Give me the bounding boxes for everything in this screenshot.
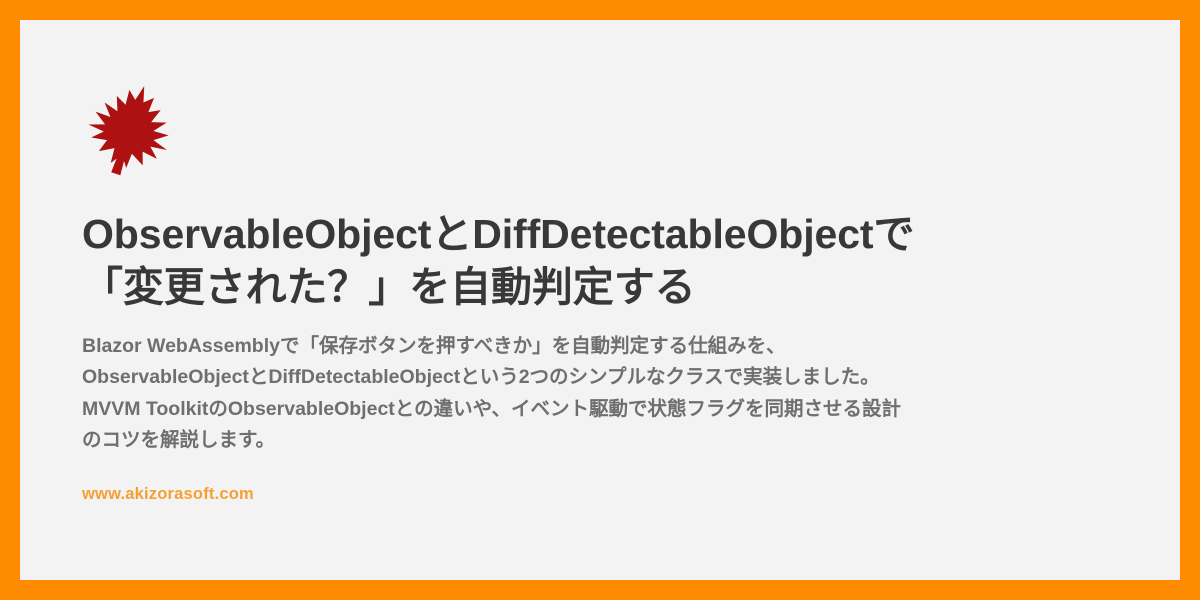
- description-line-3: MVVM ToolkitのObservableObjectとの違いや、イベント駆…: [82, 394, 1118, 426]
- page-title: ObservableObjectとDiffDetectableObjectで 「…: [82, 208, 1118, 315]
- description-line-4: のコツを解説します。: [82, 425, 1118, 457]
- page-title-line-1: ObservableObjectとDiffDetectableObjectで: [82, 208, 1118, 261]
- maple-leaf-logo: [82, 80, 178, 176]
- ogp-card: ObservableObjectとDiffDetectableObjectで 「…: [0, 0, 1200, 600]
- description-line-2: ObservableObjectとDiffDetectableObjectという…: [82, 362, 1118, 394]
- page-title-line-2: 「変更された？」を自動判定する: [82, 261, 1118, 314]
- ogp-card-inner: ObservableObjectとDiffDetectableObjectで 「…: [20, 20, 1180, 580]
- page-description: Blazor WebAssemblyで「保存ボタンを押すべきか」を自動判定する仕…: [82, 331, 1118, 457]
- site-url-link[interactable]: www.akizorasoft.com: [82, 485, 254, 504]
- description-line-1: Blazor WebAssemblyで「保存ボタンを押すべきか」を自動判定する仕…: [82, 331, 1118, 363]
